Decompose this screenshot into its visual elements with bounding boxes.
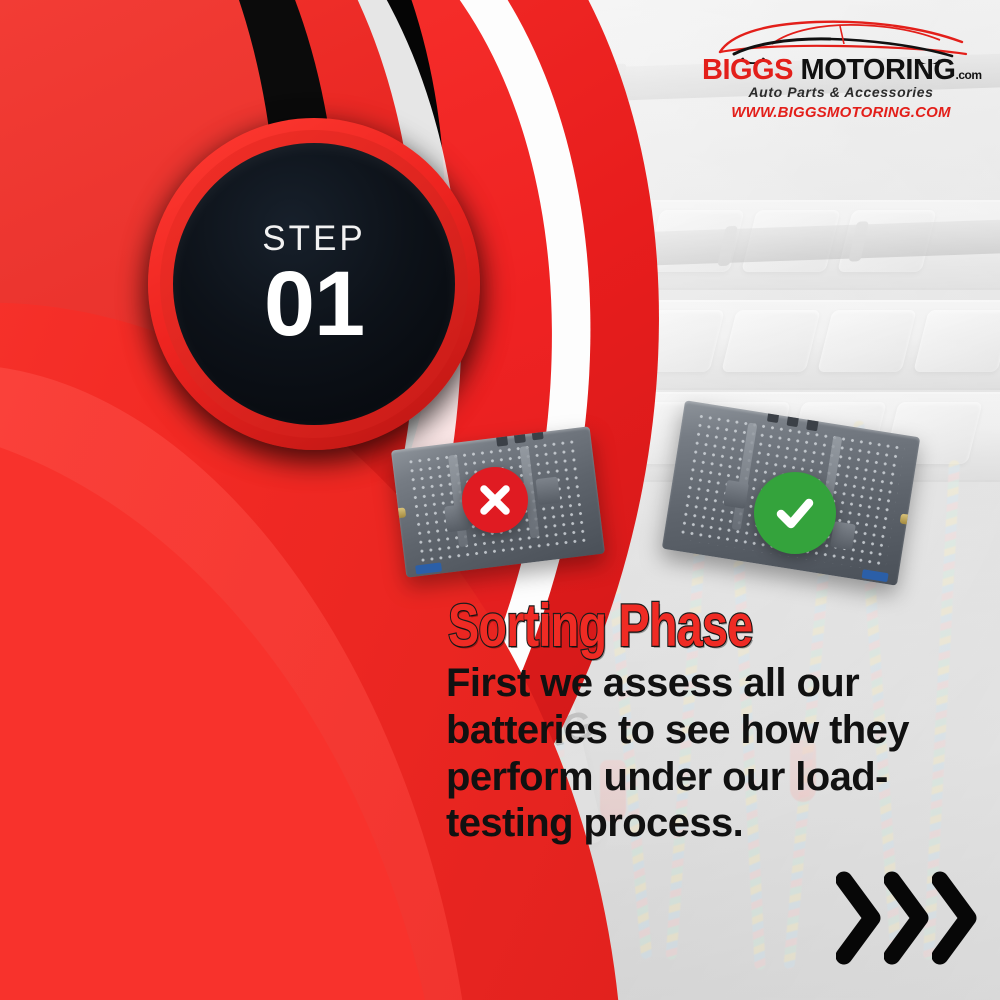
chevron-right-icon xyxy=(932,870,978,966)
triple-chevron-right-icon xyxy=(836,870,978,966)
approve-check-icon xyxy=(754,472,836,554)
brand-logo[interactable]: BIGGS MOTORING.com Auto Parts & Accessor… xyxy=(702,18,980,118)
step-number: 01 xyxy=(264,261,364,348)
logo-website[interactable]: WWW.BIGGSMOTORING.COM xyxy=(702,104,980,121)
logo-tagline: Auto Parts & Accessories xyxy=(702,84,980,100)
chevron-right-icon xyxy=(836,870,882,966)
logo-tld: .com xyxy=(956,68,982,82)
body-copy: First we assess all our batteries to see… xyxy=(446,660,926,847)
logo-brand-part1: BIGGS xyxy=(702,54,793,86)
step-badge: STEP 01 xyxy=(173,143,455,425)
logo-brand-part2: MOTORING xyxy=(801,54,956,86)
headline: Sorting Phase xyxy=(448,596,753,656)
reject-x-icon xyxy=(462,467,528,533)
chevron-right-icon xyxy=(884,870,930,966)
poster-canvas: BIGGSMOTORING AUTO PARTS & ACCESSORIES B… xyxy=(0,0,1000,1000)
